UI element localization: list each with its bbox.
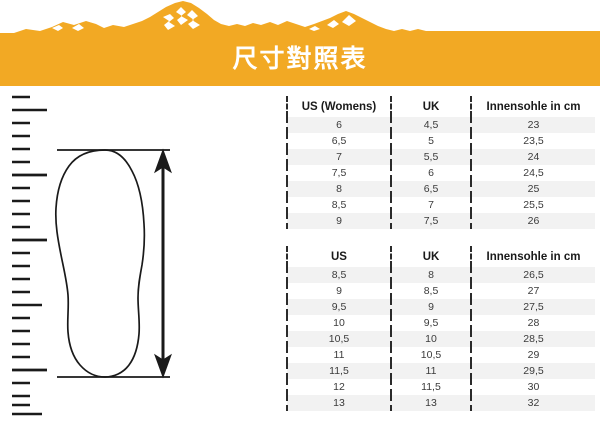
table-row: 10,5 10 28,5 (287, 331, 595, 347)
cell-uk: 11 (391, 363, 471, 379)
cell-us: 6,5 (287, 133, 391, 149)
column-header-insole: Innensohle in cm (471, 96, 595, 117)
cell-us: 10,5 (287, 331, 391, 347)
table-row: 6,5 5 23,5 (287, 133, 595, 149)
cell-insole: 24 (471, 149, 595, 165)
cell-uk: 10,5 (391, 347, 471, 363)
header-banner: 尺寸對照表 (0, 0, 600, 86)
cell-us: 9 (287, 283, 391, 299)
page-title: 尺寸對照表 (0, 33, 600, 85)
cell-us: 8,5 (287, 197, 391, 213)
table-row: 8 6,5 25 (287, 181, 595, 197)
cell-insole: 32 (471, 395, 595, 411)
cell-us: 10 (287, 315, 391, 331)
column-header-uk: UK (391, 96, 471, 117)
cell-insole: 23,5 (471, 133, 595, 149)
column-header-insole: Innensohle in cm (471, 246, 595, 267)
cell-uk: 5,5 (391, 149, 471, 165)
cell-uk: 7,5 (391, 213, 471, 229)
measurement-guide-lines (57, 150, 170, 377)
cell-insole: 28 (471, 315, 595, 331)
table-row: 6 4,5 23 (287, 117, 595, 133)
cell-us: 8,5 (287, 267, 391, 283)
cell-us: 6 (287, 117, 391, 133)
cell-us: 8 (287, 181, 391, 197)
cell-uk: 10 (391, 331, 471, 347)
cell-us: 7,5 (287, 165, 391, 181)
cell-insole: 29,5 (471, 363, 595, 379)
cell-uk: 8 (391, 267, 471, 283)
cell-us: 11 (287, 347, 391, 363)
cell-insole: 25,5 (471, 197, 595, 213)
size-table-womens: US (Womens) UK Innensohle in cm 6 4,5 23… (286, 96, 595, 229)
double-headed-arrow-icon (155, 150, 171, 377)
size-table-mens: US UK Innensohle in cm 8,5 8 26,5 9 8,5 … (286, 246, 595, 411)
table-row: 9 7,5 26 (287, 213, 595, 229)
column-header-uk: UK (391, 246, 471, 267)
cell-uk: 9,5 (391, 315, 471, 331)
table-row: 9 8,5 27 (287, 283, 595, 299)
vertical-ruler-icon (12, 97, 47, 414)
table-row: 9,5 9 27,5 (287, 299, 595, 315)
cell-uk: 9 (391, 299, 471, 315)
cell-insole: 24,5 (471, 165, 595, 181)
cell-uk: 13 (391, 395, 471, 411)
cell-us: 12 (287, 379, 391, 395)
cell-us: 11,5 (287, 363, 391, 379)
cell-insole: 27,5 (471, 299, 595, 315)
cell-insole: 30 (471, 379, 595, 395)
table-row: 12 11,5 30 (287, 379, 595, 395)
table-row: 10 9,5 28 (287, 315, 595, 331)
table-row: 7 5,5 24 (287, 149, 595, 165)
cell-uk: 6,5 (391, 181, 471, 197)
cell-us: 9,5 (287, 299, 391, 315)
cell-insole: 26 (471, 213, 595, 229)
cell-us: 9 (287, 213, 391, 229)
cell-uk: 7 (391, 197, 471, 213)
table-header-row: US UK Innensohle in cm (287, 246, 595, 267)
table-row: 11 10,5 29 (287, 347, 595, 363)
shoe-measurement-illustration (2, 92, 207, 422)
column-header-us: US (Womens) (287, 96, 391, 117)
cell-insole: 27 (471, 283, 595, 299)
table-row: 11,5 11 29,5 (287, 363, 595, 379)
cell-uk: 4,5 (391, 117, 471, 133)
cell-insole: 25 (471, 181, 595, 197)
table-row: 7,5 6 24,5 (287, 165, 595, 181)
cell-us: 13 (287, 395, 391, 411)
table-header-row: US (Womens) UK Innensohle in cm (287, 96, 595, 117)
shoe-sole-outline-icon (56, 150, 145, 377)
cell-uk: 6 (391, 165, 471, 181)
cell-insole: 28,5 (471, 331, 595, 347)
table-row: 8,5 8 26,5 (287, 267, 595, 283)
cell-insole: 26,5 (471, 267, 595, 283)
cell-insole: 29 (471, 347, 595, 363)
cell-uk: 11,5 (391, 379, 471, 395)
cell-uk: 5 (391, 133, 471, 149)
cell-us: 7 (287, 149, 391, 165)
column-header-us: US (287, 246, 391, 267)
cell-insole: 23 (471, 117, 595, 133)
cell-uk: 8,5 (391, 283, 471, 299)
table-row: 8,5 7 25,5 (287, 197, 595, 213)
table-row: 13 13 32 (287, 395, 595, 411)
